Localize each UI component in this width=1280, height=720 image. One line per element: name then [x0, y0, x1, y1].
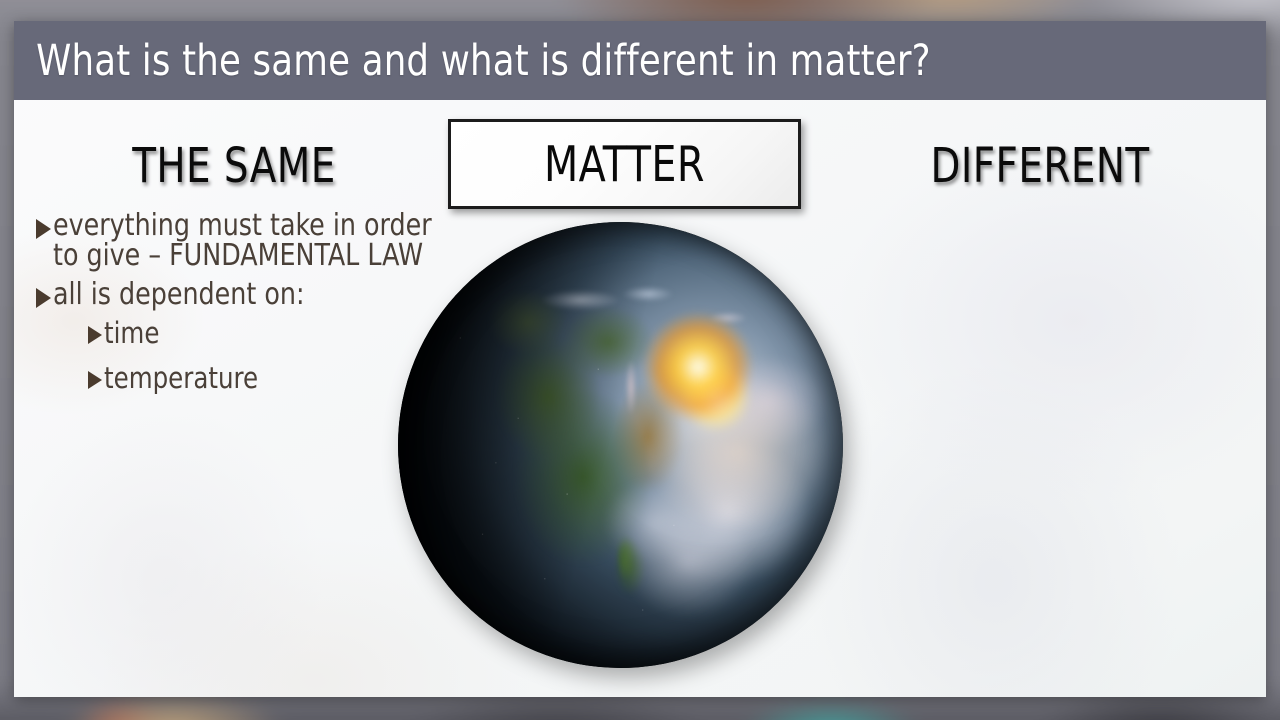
bullet-item: all is dependent on: — [36, 280, 456, 310]
earth-globe-sphere — [398, 222, 843, 668]
slide-title-bar: What is the same and what is different i… — [14, 21, 1266, 100]
bullet-text: temperature — [104, 364, 258, 393]
column-heading-different: DIFFERENT — [837, 138, 1244, 194]
triangle-bullet-icon — [88, 326, 102, 344]
bullet-item-sub: temperature — [36, 364, 456, 393]
screenshot-stage: What is the same and what is different i… — [0, 0, 1280, 720]
globe-rim-shadow — [398, 222, 843, 668]
matter-callout-box: MATTER — [448, 119, 801, 209]
earth-globe-image — [398, 222, 843, 668]
bullet-item: everything must take in order to give – … — [36, 211, 456, 271]
bullet-list: everything must take in order to give – … — [36, 211, 456, 409]
presentation-slide: What is the same and what is different i… — [14, 21, 1266, 697]
triangle-bullet-icon — [36, 288, 51, 308]
bullet-text: all is dependent on: — [53, 280, 305, 310]
triangle-bullet-icon — [88, 371, 102, 389]
column-heading-matter: MATTER — [544, 136, 705, 193]
bullet-text: time — [104, 319, 159, 348]
triangle-bullet-icon — [36, 219, 51, 239]
bullet-text: everything must take in order to give – … — [53, 211, 432, 271]
slide-title: What is the same and what is different i… — [14, 36, 931, 86]
column-heading-the-same: THE SAME — [36, 138, 432, 194]
bullet-item-sub: time — [36, 319, 456, 348]
